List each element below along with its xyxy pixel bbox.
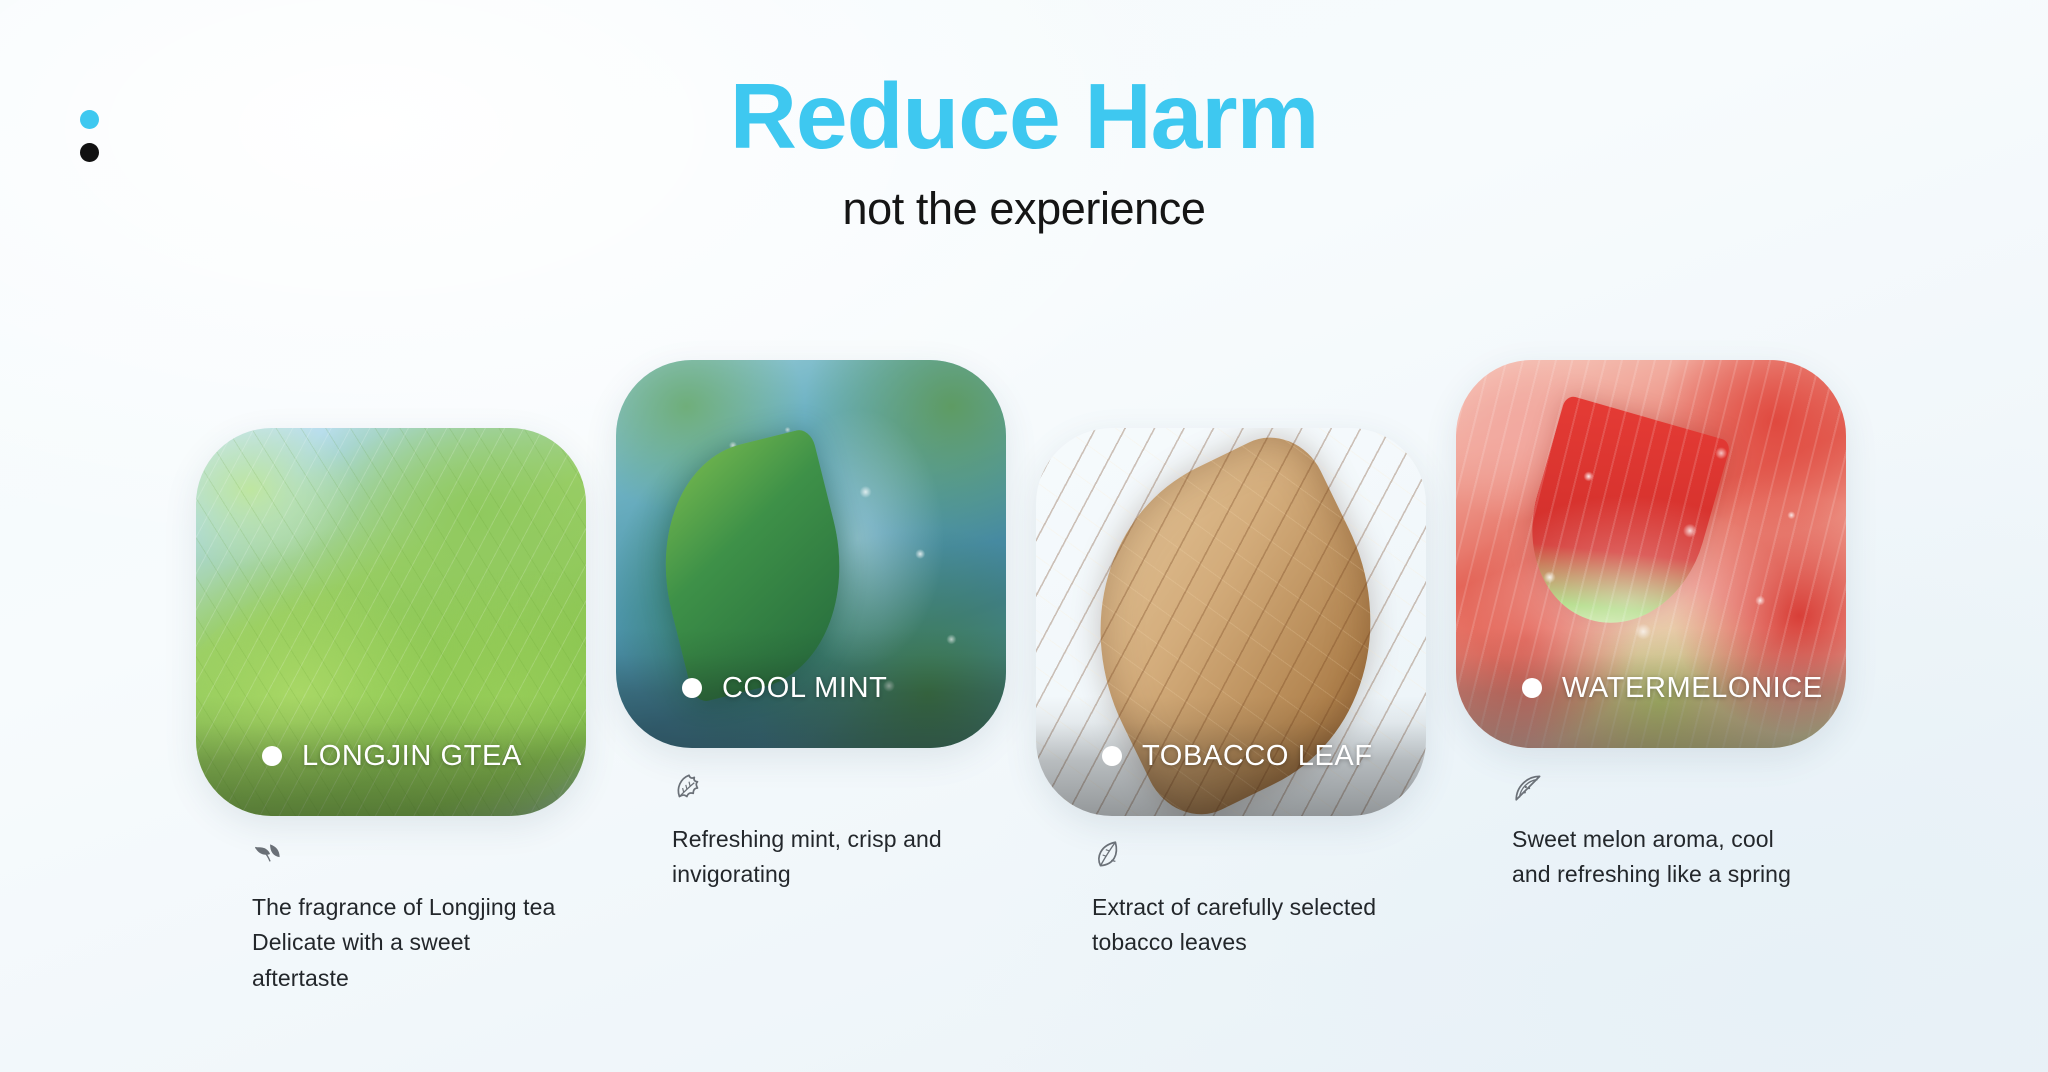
- flavour-name: WATERMELONICE: [1562, 672, 1823, 705]
- flavour-description: Extract of carefully selected tobacco le…: [1092, 890, 1396, 961]
- flavour-card-list: LONGJIN GTEA The fragrance of Longjing t…: [188, 360, 1888, 1040]
- flavour-thumbnail[interactable]: TOBACCO LEAF: [1036, 428, 1426, 816]
- flavour-thumbnail[interactable]: LONGJIN GTEA: [196, 428, 586, 816]
- flavour-caption: The fragrance of Longjing tea Delicate w…: [196, 838, 556, 996]
- tobacco-leaf-icon: [1092, 838, 1126, 872]
- flavour-caption: Refreshing mint, crisp and invigorating: [616, 770, 976, 893]
- bullet-dot-icon: [262, 746, 282, 766]
- flavour-card-longjin-gtea[interactable]: LONGJIN GTEA The fragrance of Longjing t…: [196, 428, 586, 996]
- flavour-thumbnail[interactable]: WATERMELONICE: [1456, 360, 1846, 748]
- flavour-label-bar: TOBACCO LEAF: [1036, 696, 1426, 816]
- page-subtitle: not the experience: [0, 182, 2048, 236]
- bullet-dot-icon: [682, 678, 702, 698]
- flavour-description: The fragrance of Longjing tea Delicate w…: [252, 890, 556, 996]
- flavour-label-bar: LONGJIN GTEA: [196, 696, 586, 816]
- watermelon-slice-icon: [1512, 770, 1546, 804]
- flavour-card-tobacco-leaf[interactable]: TOBACCO LEAF Extract of carefully select…: [1036, 428, 1426, 961]
- mint-leaf-icon: [672, 770, 706, 804]
- page-header: Reduce Harm not the experience: [0, 66, 2048, 236]
- flavour-name: TOBACCO LEAF: [1142, 740, 1373, 773]
- bullet-dot-icon: [1522, 678, 1542, 698]
- flavour-name: COOL MINT: [722, 672, 887, 705]
- bullet-dot-icon: [1102, 746, 1122, 766]
- flavour-label-bar: COOL MINT: [616, 628, 1006, 748]
- tea-leaves-icon: [252, 838, 286, 872]
- flavour-caption: Sweet melon aroma, cool and refreshing l…: [1456, 770, 1816, 893]
- flavour-name: LONGJIN GTEA: [302, 740, 522, 773]
- flavour-caption: Extract of carefully selected tobacco le…: [1036, 838, 1396, 961]
- flavour-card-cool-mint[interactable]: COOL MINT Refreshing mint, crisp and inv…: [616, 360, 1006, 893]
- flavour-description: Sweet melon aroma, cool and refreshing l…: [1512, 822, 1816, 893]
- flavour-description: Refreshing mint, crisp and invigorating: [672, 822, 976, 893]
- flavour-thumbnail[interactable]: COOL MINT: [616, 360, 1006, 748]
- flavour-label-bar: WATERMELONICE: [1456, 628, 1846, 748]
- flavour-card-watermelonice[interactable]: WATERMELONICE Sweet melon aroma, cool an…: [1456, 360, 1846, 893]
- page-title: Reduce Harm: [0, 66, 2048, 166]
